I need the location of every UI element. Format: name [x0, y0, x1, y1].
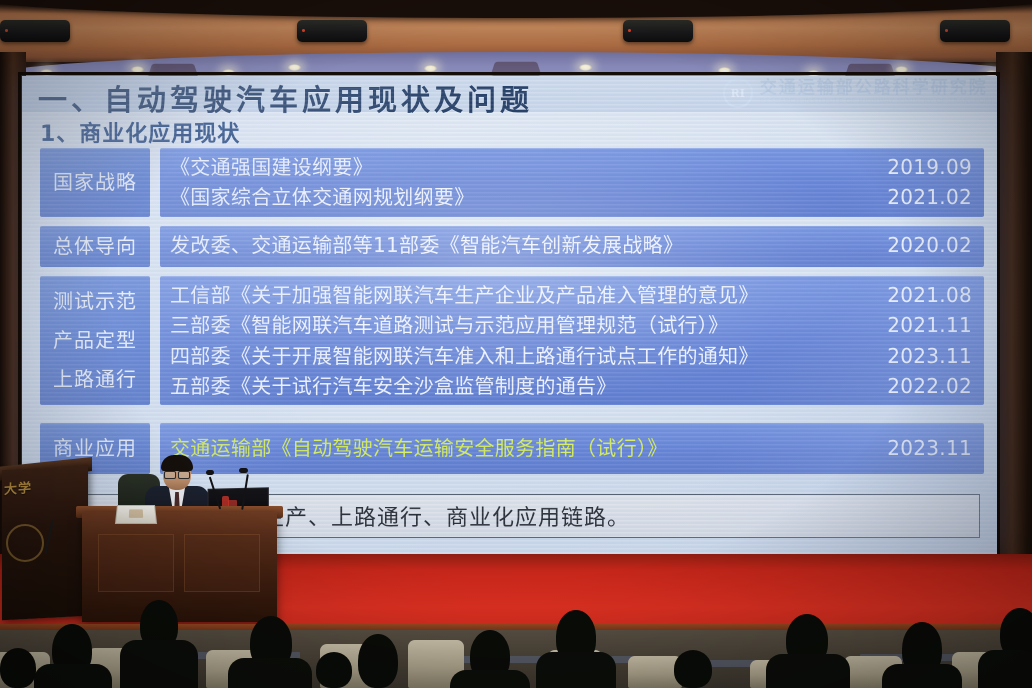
downlight [718, 67, 731, 74]
document-date: 2023.11 [866, 433, 972, 463]
audience-member [978, 650, 1032, 688]
slide-title: 一、自动驾驶汽车应用现状及问题 [38, 77, 533, 119]
institute-name-cn: 交通运输部公路科学研究院 [760, 80, 994, 97]
podium-emblem-icon [6, 524, 44, 562]
glasses-icon [164, 471, 190, 477]
downlight [579, 64, 592, 71]
category-label: 国家战略 [53, 168, 137, 197]
desk-panel [184, 534, 260, 592]
table-row: 总体导向 发改委、交通运输部等11部委《智能汽车创新发展战略》 2020.02 [40, 226, 984, 267]
row-dates: 2023.11 [866, 423, 984, 473]
downlight [895, 66, 908, 73]
ceiling-speaker [0, 20, 70, 42]
category-label: 上路通行 [53, 365, 137, 394]
row-documents: 发改委、交通运输部等11部委《智能汽车创新发展战略》 [160, 226, 866, 267]
ceiling-speaker [623, 20, 693, 42]
row-documents: 交通运输部《自动驾驶汽车运输安全服务指南（试行）》 [160, 423, 866, 473]
document-name: 三部委《智能网联汽车道路测试与示范应用管理规范（试行）》 [170, 310, 866, 340]
row-dates: 2020.02 [866, 226, 984, 267]
document-date: 2021.02 [866, 182, 972, 212]
speaker-hair [161, 455, 193, 471]
document-date: 2021.08 [866, 280, 972, 310]
row-body: 交通运输部《自动驾驶汽车运输安全服务指南（试行）》 2023.11 [160, 423, 984, 473]
audience-member [766, 654, 850, 688]
row-body: 工信部《关于加强智能网联汽车生产企业及产品准入管理的意见》 三部委《智能网联汽车… [160, 276, 984, 406]
institute-logo-icon: RI [723, 78, 753, 108]
document-name: 五部委《关于试行汽车安全沙盒监管制度的通告》 [170, 371, 866, 401]
audience-member [536, 652, 616, 688]
audience-member [0, 648, 36, 688]
desk-panel [98, 534, 174, 592]
auditorium-photo: 一、自动驾驶汽车应用现状及问题 RI 交通运输部公路科学研究院 RESEARCH… [0, 0, 1032, 688]
ceiling-vent [490, 62, 541, 76]
document-date: 2023.11 [866, 341, 972, 371]
category-label: 产品定型 [53, 326, 137, 355]
downlight [222, 69, 235, 76]
category-label: 总体导向 [53, 232, 137, 261]
document-name: 交通运输部《自动驾驶汽车运输安全服务指南（试行）》 [170, 433, 866, 463]
document-name: 发改委、交通运输部等11部委《智能汽车创新发展战略》 [170, 230, 866, 260]
ceiling-speaker [297, 20, 367, 42]
document-date: 2022.02 [866, 371, 972, 401]
document-name: 四部委《关于开展智能网联汽车准入和上路通行试点工作的通知》 [170, 341, 866, 371]
document-date: 2020.02 [866, 230, 972, 260]
table-row: 国家战略 《交通强国建设纲要》 《国家综合立体交通网规划纲要》 2019.09 … [40, 148, 984, 217]
document-date: 2019.09 [866, 152, 972, 182]
audience-member [358, 634, 398, 688]
downlight [288, 64, 301, 71]
row-documents: 工信部《关于加强智能网联汽车生产企业及产品准入管理的意见》 三部委《智能网联汽车… [160, 276, 866, 406]
podium-label: 大学 [4, 477, 32, 498]
ceiling-speaker [940, 20, 1010, 42]
audience-member [316, 652, 352, 688]
desk-nameplate [115, 505, 157, 524]
document-name: 《国家综合立体交通网规划纲要》 [170, 182, 866, 212]
table-row: 测试示范 产品定型 上路通行 工信部《关于加强智能网联汽车生产企业及产品准入管理… [40, 276, 984, 406]
downlight [131, 66, 144, 73]
desk-microphone-head [239, 468, 248, 473]
downlight [40, 69, 53, 76]
audience-member [450, 670, 530, 688]
row-body: 发改委、交通运输部等11部委《智能汽车创新发展战略》 2020.02 [160, 226, 984, 267]
row-category: 测试示范 产品定型 上路通行 [40, 276, 150, 406]
side-wall-right [996, 52, 1032, 592]
institute-name-en: RESEARCH INSTITUTE OF HIGHWAY MINISTRY O… [760, 97, 994, 106]
audience-member [674, 650, 712, 688]
downlight [424, 65, 437, 72]
slide-subtitle: 1、商业化应用现状 [40, 116, 240, 148]
audience-member [228, 658, 312, 688]
row-category: 总体导向 [40, 226, 150, 267]
document-name: 《交通强国建设纲要》 [170, 152, 866, 182]
category-label: 测试示范 [53, 287, 137, 316]
audience-member [34, 664, 112, 688]
row-dates: 2021.08 2021.11 2023.11 2022.02 [866, 276, 984, 406]
audience-member [882, 664, 962, 688]
slide-title-bar: 一、自动驾驶汽车应用现状及问题 RI 交通运输部公路科学研究院 RESEARCH… [22, 76, 1000, 112]
document-date: 2021.11 [866, 310, 972, 340]
audience-member [120, 640, 198, 688]
policy-table: 国家战略 《交通强国建设纲要》 《国家综合立体交通网规划纲要》 2019.09 … [40, 148, 984, 483]
desk-microphone-head [206, 470, 214, 475]
document-name: 工信部《关于加强智能网联汽车生产企业及产品准入管理的意见》 [170, 280, 866, 310]
row-body: 《交通强国建设纲要》 《国家综合立体交通网规划纲要》 2019.09 2021.… [160, 148, 984, 217]
row-documents: 《交通强国建设纲要》 《国家综合立体交通网规划纲要》 [160, 148, 866, 217]
row-dates: 2019.09 2021.02 [866, 148, 984, 217]
row-category: 国家战略 [40, 148, 150, 217]
institute-logo: RI 交通运输部公路科学研究院 RESEARCH INSTITUTE OF HI… [723, 78, 994, 108]
